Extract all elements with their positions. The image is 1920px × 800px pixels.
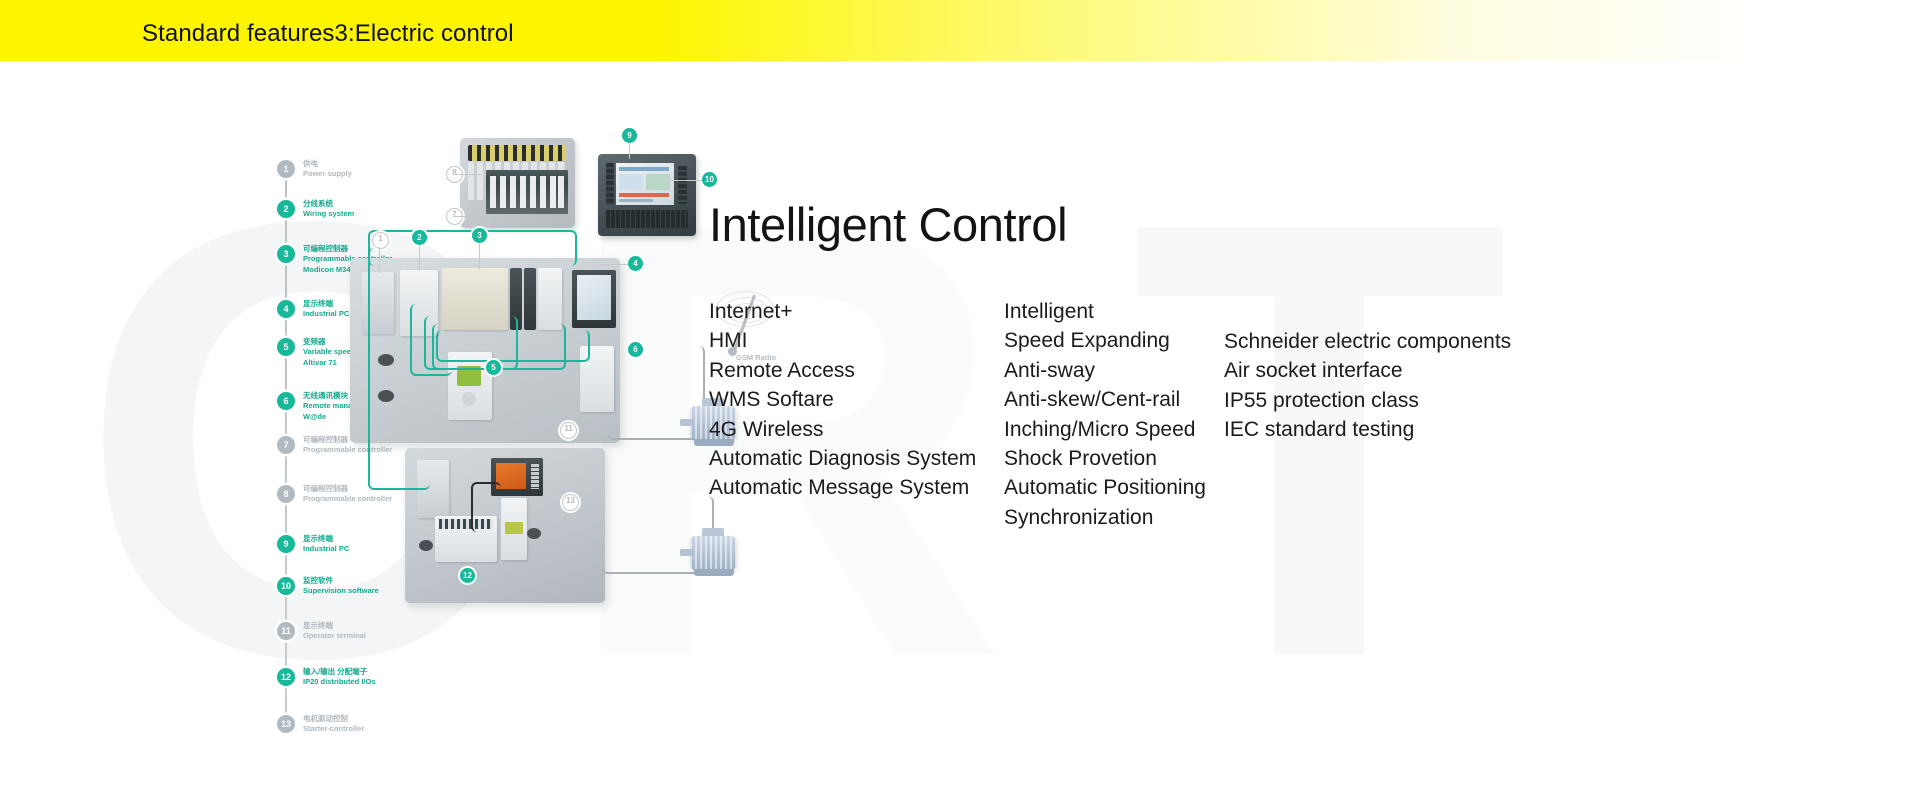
feature-item: Synchronization xyxy=(1004,503,1206,532)
legend-number-badge: 7 xyxy=(277,436,295,454)
callout-11: 11 xyxy=(560,422,577,439)
feature-item: Inching/Micro Speed xyxy=(1004,415,1206,444)
cable-gland-4 xyxy=(527,528,541,539)
legend-number-badge: 5 xyxy=(277,338,295,356)
feature-item: Shock Provetion xyxy=(1004,444,1206,473)
legend-number-badge: 4 xyxy=(277,300,295,318)
feature-item: Automatic Positioning xyxy=(1004,473,1206,502)
feature-item: IP55 protection class xyxy=(1224,386,1511,415)
feature-item: Air socket interface xyxy=(1224,356,1511,385)
terminal-rail xyxy=(468,145,566,161)
bus-wire-left xyxy=(368,248,430,490)
feature-column-3: Schneider electric componentsAir socket … xyxy=(1224,327,1511,445)
industrial-pc-panel xyxy=(598,154,696,236)
legend-number-badge: 6 xyxy=(277,392,295,410)
callout-6: 6 xyxy=(628,342,643,357)
title-banner: Standard features3:Electric control xyxy=(0,0,1920,61)
legend-number-badge: 12 xyxy=(277,668,295,686)
drive-cabinet-bottom xyxy=(405,448,605,603)
feature-item: HMI xyxy=(709,326,976,355)
leader-line xyxy=(453,216,489,217)
control-wire-4 xyxy=(436,330,590,362)
industrial-pc-screen xyxy=(572,270,616,328)
legend-number-badge: 2 xyxy=(277,200,295,218)
io-module-b xyxy=(524,268,536,330)
feature-item: 4G Wireless xyxy=(709,415,976,444)
page-title: Standard features3:Electric control xyxy=(142,20,514,48)
feature-item: Internet+ xyxy=(709,297,976,326)
callout-13: 13 xyxy=(562,494,579,511)
feature-item: Schneider electric components xyxy=(1224,327,1511,356)
callout-1: 1 xyxy=(372,232,389,249)
feature-column-1: Internet+HMIRemote AccessWMS Softare4G W… xyxy=(709,297,976,503)
callout-5: 5 xyxy=(486,360,501,375)
feature-item: WMS Softare xyxy=(709,385,976,414)
legend-number-badge: 1 xyxy=(277,160,295,178)
feature-item: Automatic Diagnosis System xyxy=(709,444,976,473)
leader-line xyxy=(629,143,630,159)
leader-line xyxy=(479,243,480,269)
io-module-c xyxy=(538,268,562,330)
leader-line xyxy=(453,174,481,175)
legend-number-badge: 13 xyxy=(277,715,295,733)
leader-line xyxy=(419,245,420,271)
plc-module-rack xyxy=(486,170,568,214)
starter-controller xyxy=(501,498,527,560)
hmi-keypad xyxy=(606,210,688,228)
legend-number-badge: 9 xyxy=(277,535,295,553)
callout-4: 4 xyxy=(628,256,643,271)
feature-item: IEC standard testing xyxy=(1224,415,1511,444)
legend-number-badge: 10 xyxy=(277,577,295,595)
cable-gland-3 xyxy=(419,540,433,551)
callout-12: 12 xyxy=(460,568,475,583)
feature-item: Remote Access xyxy=(709,356,976,385)
leader-line xyxy=(600,264,628,265)
callout-2: 2 xyxy=(412,230,427,245)
legend-number-badge: 8 xyxy=(277,485,295,503)
hmi-screen xyxy=(616,163,674,205)
legend-number-badge: 11 xyxy=(277,622,295,640)
callout-9: 9 xyxy=(622,128,637,143)
leader-line xyxy=(668,180,702,181)
callout-10: 10 xyxy=(702,172,717,187)
panel-wire-dark xyxy=(471,482,501,532)
feature-item: Speed Expanding xyxy=(1004,326,1206,355)
feature-item: Anti-sway xyxy=(1004,356,1206,385)
legend-number-badge: 3 xyxy=(277,245,295,263)
leader-line xyxy=(379,247,380,273)
callout-3: 3 xyxy=(472,228,487,243)
feature-item: Intelligent xyxy=(1004,297,1206,326)
section-heading: Intelligent Control xyxy=(709,197,1067,252)
feature-column-2: IntelligentSpeed ExpandingAnti-swayAnti-… xyxy=(1004,297,1206,532)
feature-item: Automatic Message System xyxy=(709,473,976,502)
feature-item: Anti-skew/Cent-rail xyxy=(1004,385,1206,414)
plc-cabinet-top xyxy=(460,138,575,228)
